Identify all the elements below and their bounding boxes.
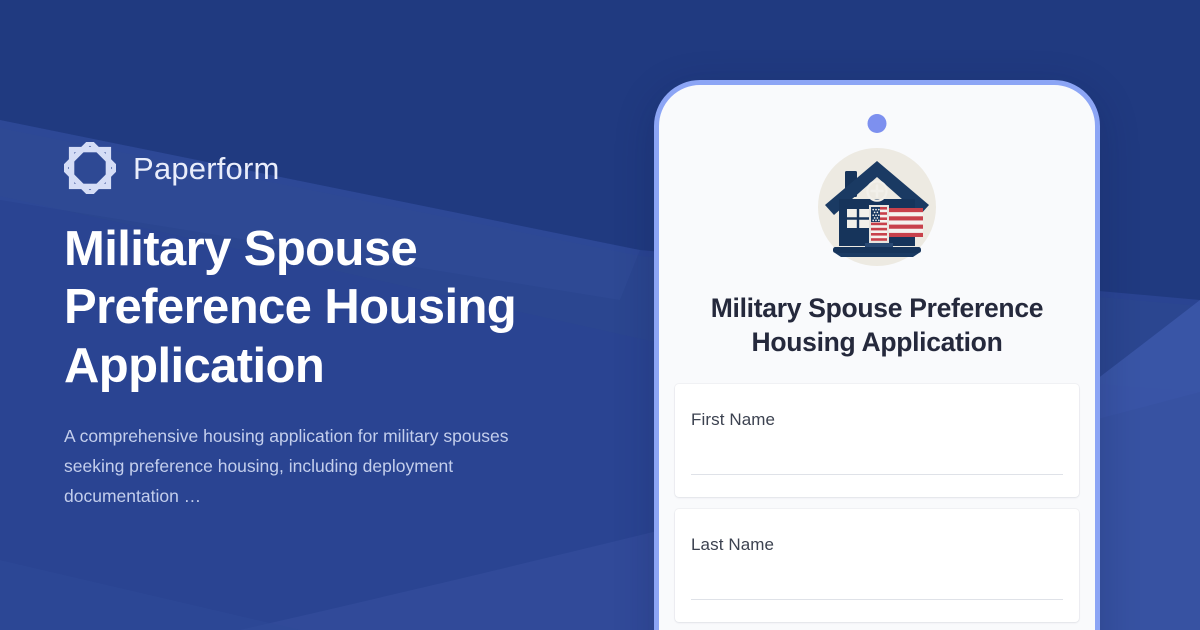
form-field-first-name[interactable]: First Name bbox=[675, 384, 1079, 497]
form-field-last-name[interactable]: Last Name bbox=[675, 509, 1079, 622]
field-label: First Name bbox=[691, 410, 1063, 430]
phone-mockup: Military Spouse Preference Housing Appli… bbox=[654, 80, 1100, 630]
field-input-underline[interactable] bbox=[691, 474, 1063, 475]
share-card-canvas: Paperform Military Spouse Preference Hou… bbox=[0, 0, 1200, 630]
house-with-american-flag-icon bbox=[813, 143, 941, 271]
page-description: A comprehensive housing application for … bbox=[64, 421, 556, 511]
brand-lockup: Paperform bbox=[64, 140, 604, 196]
form-preview: Military Spouse Preference Housing Appli… bbox=[659, 85, 1095, 630]
page-title: Military Spouse Preference Housing Appli… bbox=[64, 220, 564, 395]
hero-content: Paperform Military Spouse Preference Hou… bbox=[64, 140, 604, 511]
form-header-icon-wrap bbox=[659, 143, 1095, 271]
field-input-underline[interactable] bbox=[691, 599, 1063, 600]
field-label: Last Name bbox=[691, 535, 1063, 555]
form-title: Military Spouse Preference Housing Appli… bbox=[659, 291, 1095, 360]
paperform-logo-icon bbox=[64, 142, 116, 194]
brand-name: Paperform bbox=[133, 153, 280, 184]
